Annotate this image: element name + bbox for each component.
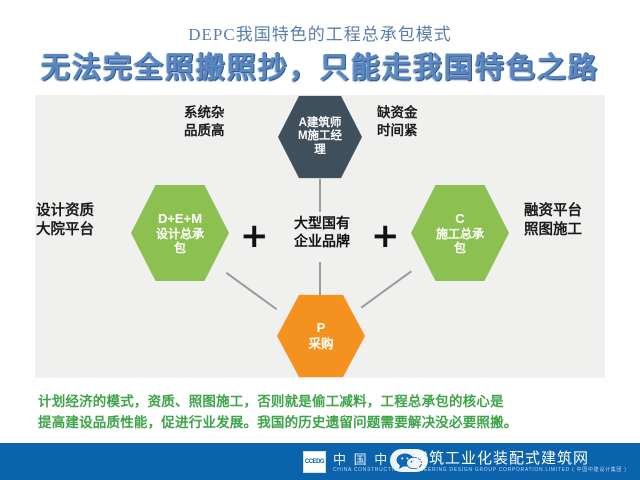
node-right-line2: 施工总承 [436,227,484,241]
label-left-line1: 设计资质 [36,202,94,221]
summary-note: 计划经济的模式，资质、照图施工，否则就是偷工减料，工程总承包的核心是 提高建设品… [38,392,604,434]
connector-top-vertical [319,179,321,212]
node-bottom-line2: 采购 [308,337,333,352]
node-right-line3: 包 [454,241,466,255]
label-top-left-line2: 品质高 [184,122,225,140]
company-logo: CCEDG [303,451,326,473]
label-top-left: 系统杂 品质高 [184,104,225,140]
slide-title: 无法完全照搬照抄，只能走我国特色之路 [0,44,640,86]
label-left-line2: 大院平台 [36,221,94,240]
label-right-line1: 融资平台 [524,202,582,221]
plus-operator-right: + [371,219,400,253]
center-brand-line2: 企业品牌 [268,232,376,250]
plus-operator-left: + [240,219,269,253]
center-brand-label: 大型国有 企业品牌 [268,214,376,250]
node-left-line2: 设计总承 [156,227,204,241]
label-right-line2: 照图施工 [524,221,582,240]
summary-note-line2: 提高建设品质性能，促进行业发展。我国的历史遗留问题需要解决没必要照搬。 [38,413,604,434]
node-left-code: D+E+M [158,211,202,226]
slide-root: DEPC我国特色的工程总承包模式 无法完全照搬照抄，只能走我国特色之路 A建筑师… [0,0,640,480]
label-top-right: 缺资金 时间紧 [377,104,418,140]
node-top-line3: 理 [314,144,326,158]
connector-left-diagonal [226,272,277,310]
label-top-left-line1: 系统杂 [184,104,225,122]
node-right-code: C [455,211,464,226]
node-left-line3: 包 [174,241,186,255]
site-name: 建筑工业化装配式建筑网 [413,447,589,468]
summary-note-line1: 计划经济的模式，资质、照图施工，否则就是偷工减料，工程总承包的核心是 [38,392,604,413]
label-left: 设计资质 大院平台 [36,202,94,240]
node-top-code: A建筑师 [299,117,342,131]
label-top-right-line1: 缺资金 [377,104,418,122]
connector-right-diagonal [361,270,412,308]
node-top-line2: M施工经 [298,130,342,144]
label-right: 融资平台 照图施工 [524,202,582,240]
node-bottom-code: P [317,320,326,335]
center-brand-line1: 大型国有 [268,214,376,232]
slide-subtitle: DEPC我国特色的工程总承包模式 [0,20,640,45]
label-top-right-line2: 时间紧 [377,122,418,140]
connector-bottom-vertical [319,262,321,297]
